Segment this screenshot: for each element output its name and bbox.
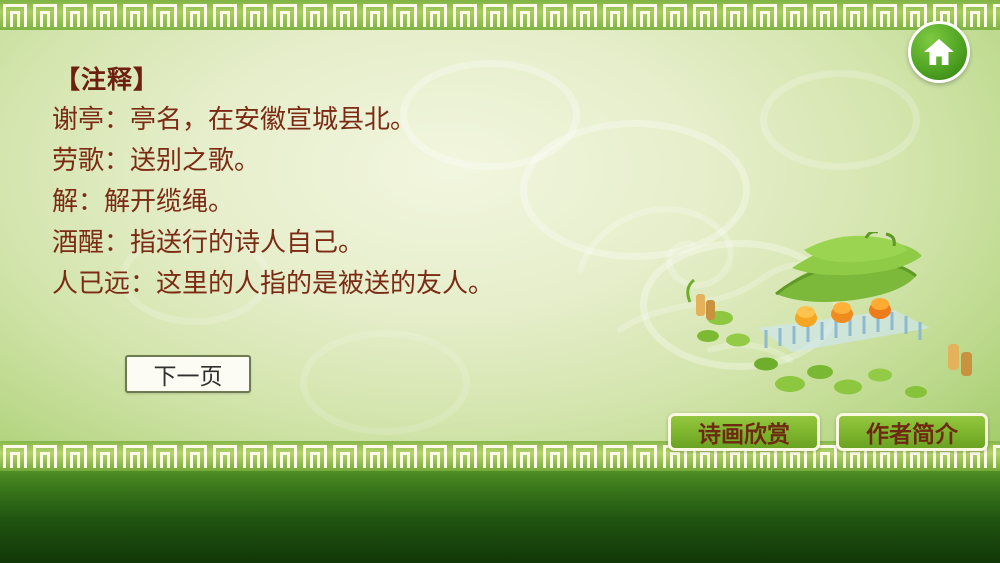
notes-list: 谢亭：亭名，在安徽宣城县北。 劳歌：送别之歌。 解：解开缆绳。 酒醒：指送行的诗… xyxy=(52,100,752,305)
note-line: 劳歌：送别之歌。 xyxy=(52,141,752,182)
poem-notes-screen: 【注释】 谢亭：亭名，在安徽宣城县北。 劳歌：送别之歌。 解：解开缆绳。 酒醒：… xyxy=(0,0,1000,563)
cloud-watermark xyxy=(300,330,470,435)
ornament-pattern-row xyxy=(0,0,1000,30)
top-ornament-border xyxy=(0,0,1000,30)
lotus-pavilion-illustration xyxy=(680,232,990,422)
pill-poem-painting-appreciation[interactable]: 诗画欣赏 xyxy=(668,413,820,451)
page-title: 【注释】 xyxy=(55,60,159,96)
home-button[interactable] xyxy=(908,21,970,83)
home-icon xyxy=(922,36,956,68)
pill-author-introduction[interactable]: 作者简介 xyxy=(836,413,988,451)
note-line: 酒醒：指送行的诗人自己。 xyxy=(52,223,752,264)
note-line: 解：解开缆绳。 xyxy=(52,182,752,223)
note-line: 谢亭：亭名，在安徽宣城县北。 xyxy=(52,100,752,141)
cloud-watermark xyxy=(760,70,920,170)
action-pill-row: 诗画欣赏 作者简介 xyxy=(668,413,988,451)
note-line: 人已远：这里的人指的是被送的友人。 xyxy=(52,264,752,305)
next-page-button[interactable]: 下一页 xyxy=(125,355,251,393)
